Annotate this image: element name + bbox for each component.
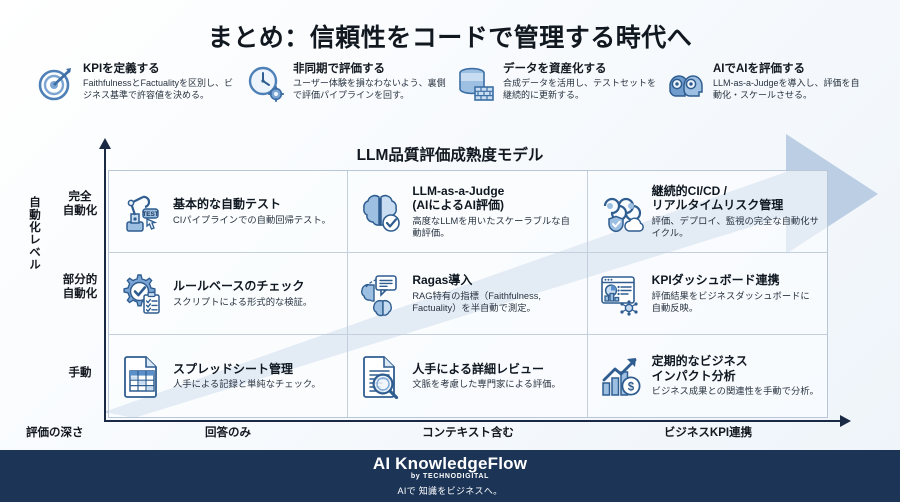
cell-desc: 高度なLLMを用いたスケーラブルな自動評価。 (412, 215, 578, 240)
pillar-title: KPIを定義する (83, 62, 238, 76)
cell-title: 継続的CI/CD / リアルタイムリスク管理 (652, 184, 819, 213)
x-axis-label: 評価の深さ (26, 424, 84, 440)
pillar-item-data: データを資産化する 合成データを活用し、テストセットを継続的に更新する。 (456, 62, 666, 124)
pillar-desc: ユーザー体験を損なわないよう、裏側で評価パイプラインを回す。 (293, 78, 448, 102)
cell-title: KPIダッシュボード連携 (652, 273, 819, 288)
footer-tagline: AIで 知識をビジネスへ。 (398, 484, 503, 497)
clock-gear-icon (246, 64, 286, 104)
robot-arm-test-icon: TEST (119, 189, 165, 235)
cell-title: Ragas導入 (412, 273, 578, 288)
cell-title: ルールベースのチェック (173, 279, 339, 294)
x-axis-line (104, 420, 842, 422)
gear-checklist-icon (119, 271, 165, 317)
pillar-desc: FaithfulnessとFactualityを区別し、ビジネス基準で許容値を決… (83, 78, 238, 102)
cell-title-line2: インパクト分析 (652, 369, 736, 383)
slide-root: まとめ：信頼性をコードで管理する時代へ KPIを定義する Faithfulnes… (0, 0, 900, 502)
y-axis-label: 自動化レベル (22, 196, 42, 271)
cell-desc: RAG特有の指標（Faithfulness, Factuality）を半自動で測… (412, 290, 578, 315)
matrix-cell-auto-answer[interactable]: TEST 基本的な自動テスト CIパイプラインでの自動回帰テスト。 (109, 171, 348, 253)
matrix-cell-auto-context[interactable]: LLM-as-a-Judge (AIによるAI評価) 高度なLLMを用いたスケー… (348, 171, 587, 253)
pillar-desc: LLM-as-a-Judgeを導入し、評価を自動化・スケールさせる。 (713, 78, 868, 102)
pillar-title: AIでAIを評価する (713, 62, 868, 76)
x-tick-business-kpi: ビジネスKPI連携 (588, 424, 828, 440)
spreadsheet-icon (119, 353, 165, 399)
matrix-cell-partial-answer[interactable]: ルールベースのチェック スクリプトによる形式的な検証。 (109, 253, 348, 335)
cell-title: LLM-as-a-Judge (AIによるAI評価) (412, 184, 578, 213)
infinity-shield-cloud-icon (598, 189, 644, 235)
matrix-cell-manual-kpi[interactable]: $ 定期的なビジネス インパクト分析 ビジネス成果との関連性を手動で分析。 (588, 335, 827, 417)
pillar-item-async: 非同期で評価する ユーザー体験を損なわないよう、裏側で評価パイプラインを回す。 (246, 62, 456, 124)
y-tick-manual: 手動 (58, 366, 102, 380)
cell-title: 定期的なビジネス インパクト分析 (652, 354, 819, 383)
target-arrow-icon (36, 64, 76, 104)
cell-desc: CIパイプラインでの自動回帰テスト。 (173, 214, 339, 226)
matrix-title: LLM品質評価成熟度モデル (0, 143, 900, 165)
cell-title-line1: LLM-as-a-Judge (412, 184, 504, 198)
cell-desc: 評価、デプロイ、監視の完全な自動化サイクル。 (652, 215, 819, 240)
growth-chart-dollar-icon: $ (598, 353, 644, 399)
svg-text:$: $ (627, 381, 634, 393)
cell-title-line2: (AIによるAI評価) (412, 198, 504, 212)
document-magnifier-icon (358, 353, 404, 399)
pillar-title: 非同期で評価する (293, 62, 448, 76)
database-bricks-icon (456, 64, 496, 104)
page-title: まとめ：信頼性をコードで管理する時代へ (0, 18, 900, 54)
pillar-title: データを資産化する (503, 62, 658, 76)
two-heads-ai-icon (666, 64, 706, 104)
svg-text:TEST: TEST (142, 211, 158, 218)
cell-desc: スクリプトによる形式的な検証。 (173, 296, 339, 308)
cell-desc: 文脈を考慮した専門家による評価。 (412, 378, 578, 390)
x-tick-labels: 回答のみ コンテキスト含む ビジネスKPI連携 (108, 424, 828, 440)
maturity-matrix: TEST 基本的な自動テスト CIパイプラインでの自動回帰テスト。 (108, 170, 828, 418)
matrix-grid: TEST 基本的な自動テスト CIパイプラインでの自動回帰テスト。 (108, 170, 828, 418)
x-tick-with-context: コンテキスト含む (348, 424, 588, 440)
brain-speech-icon (358, 271, 404, 317)
cell-title: 人手による詳細レビュー (412, 362, 578, 377)
pillar-item-ai-eval: AIでAIを評価する LLM-as-a-Judgeを導入し、評価を自動化・スケー… (666, 62, 876, 124)
matrix-cell-partial-kpi[interactable]: KPIダッシュボード連携 評価結果をビジネスダッシュボードに自動反映。 (588, 253, 827, 335)
cell-desc: ビジネス成果との関連性を手動で分析。 (652, 385, 819, 397)
cell-title: スプレッドシート管理 (173, 362, 339, 377)
matrix-cell-manual-answer[interactable]: スプレッドシート管理 人手による記録と単純なチェック。 (109, 335, 348, 417)
pillar-item-kpi: KPIを定義する FaithfulnessとFactualityを区別し、ビジネ… (36, 62, 246, 124)
y-axis-line (104, 146, 106, 422)
footer-bar: AI KnowledgeFlow by TECHNODIGITAL AIで 知識… (0, 450, 900, 502)
pillar-desc: 合成データを活用し、テストセットを継続的に更新する。 (503, 78, 658, 102)
brain-check-icon (358, 189, 404, 235)
cell-desc: 評価結果をビジネスダッシュボードに自動反映。 (652, 290, 819, 315)
cell-desc: 人手による記録と単純なチェック。 (173, 378, 339, 390)
y-tick-labels: 完全自動化 部分的自動化 手動 (58, 170, 102, 418)
y-tick-partial-auto: 部分的自動化 (58, 273, 102, 301)
matrix-cell-manual-context[interactable]: 人手による詳細レビュー 文脈を考慮した専門家による評価。 (348, 335, 587, 417)
footer-brand: AI KnowledgeFlow (373, 455, 527, 473)
y-tick-full-auto: 完全自動化 (58, 190, 102, 218)
cell-title: 基本的な自動テスト (173, 197, 339, 212)
cell-title-line1: 継続的CI/CD / (652, 184, 727, 198)
cell-title-line1: 定期的なビジネス (652, 354, 748, 368)
footer-subbrand: by TECHNODIGITAL (411, 473, 489, 480)
x-axis-arrowhead (840, 415, 851, 427)
dashboard-network-icon (598, 271, 644, 317)
matrix-cell-partial-context[interactable]: Ragas導入 RAG特有の指標（Faithfulness, Factualit… (348, 253, 587, 335)
matrix-cell-auto-kpi[interactable]: 継続的CI/CD / リアルタイムリスク管理 評価、デプロイ、監視の完全な自動化… (588, 171, 827, 253)
key-takeaways-row: KPIを定義する FaithfulnessとFactualityを区別し、ビジネ… (36, 62, 876, 124)
cell-title-line2: リアルタイムリスク管理 (652, 198, 784, 212)
x-tick-answer-only: 回答のみ (108, 424, 348, 440)
